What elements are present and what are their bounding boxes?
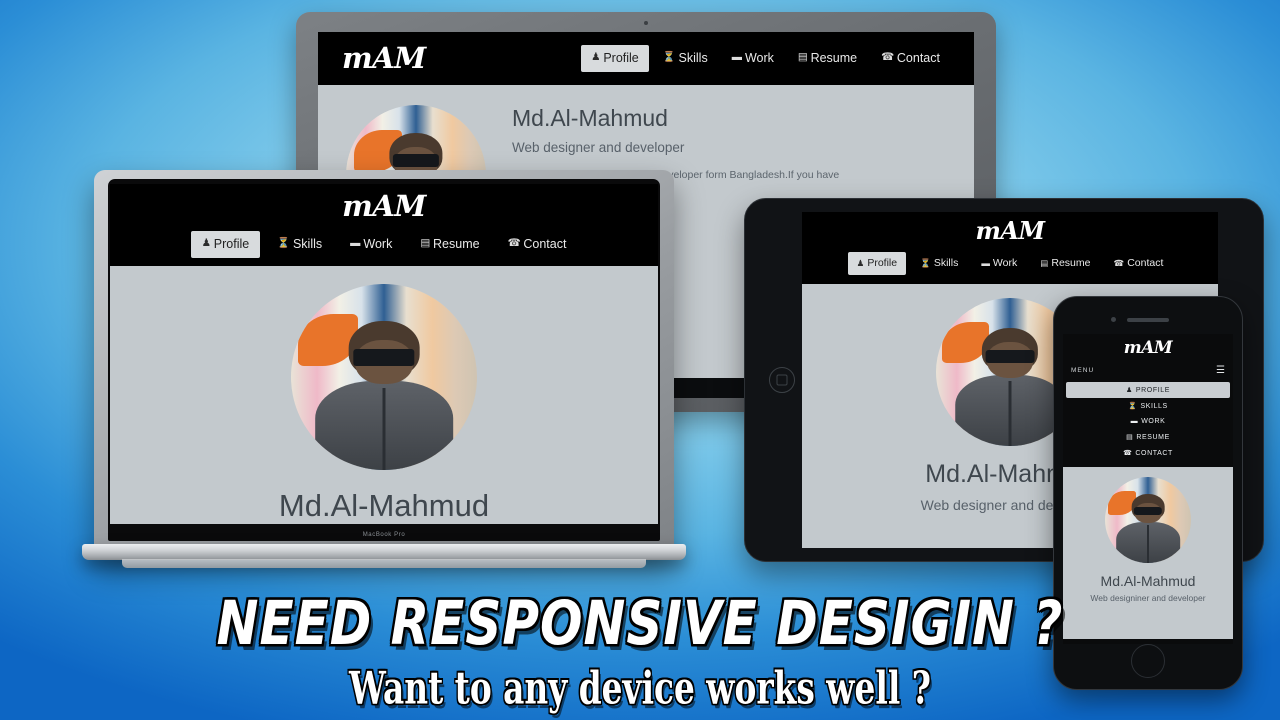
tablet-nav-list: ♟Profile ⏳Skills ▬Work ▤Resume ☎Contact xyxy=(802,252,1218,275)
laptop-navbar: mAM ♟Profile ⏳Skills ▬Work ▤Resume ☎Cont… xyxy=(110,184,658,266)
mobile-menu-label: MENU xyxy=(1071,367,1094,374)
briefcase-icon: ▬ xyxy=(350,239,360,249)
nav-item-skills[interactable]: ⏳Skills xyxy=(911,252,967,275)
nav-item-skills[interactable]: ⏳Skills xyxy=(266,231,333,258)
avatar xyxy=(1105,477,1191,563)
desktop-webcam-icon xyxy=(644,21,648,25)
nav-label: WORK xyxy=(1141,418,1165,425)
avatar xyxy=(291,284,477,470)
headline-primary: NEED RESPONSIVE DESIGIN ? xyxy=(0,588,1280,659)
nav-label: PROFILE xyxy=(1136,387,1170,394)
mobile-nav-item-resume[interactable]: ▤RESUME xyxy=(1063,429,1233,445)
nav-label: Skills xyxy=(679,52,708,65)
nav-item-work[interactable]: ▬Work xyxy=(722,45,784,72)
filter-icon: ⏳ xyxy=(663,53,676,63)
file-icon: ▤ xyxy=(1126,433,1133,441)
nav-label: Contact xyxy=(897,52,940,65)
laptop-hero: Md.Al-Mahmud xyxy=(110,266,658,524)
mobile-nav-item-contact[interactable]: ☎CONTACT xyxy=(1063,445,1233,461)
headline-secondary: Want to any device works well ? xyxy=(115,662,1165,715)
nav-item-profile[interactable]: ♟Profile xyxy=(191,231,261,258)
user-icon: ♟ xyxy=(857,259,865,268)
site-logo[interactable]: mAM xyxy=(802,219,1218,243)
desktop-nav-list: ♟Profile ⏳Skills ▬Work ▤Resume ☎Contact xyxy=(581,45,950,72)
nav-label: Resume xyxy=(433,238,480,251)
nav-item-skills[interactable]: ⏳Skills xyxy=(653,45,718,72)
tablet-home-button[interactable] xyxy=(769,367,795,393)
site-logo[interactable]: mAM xyxy=(1063,334,1233,357)
user-icon: ♟ xyxy=(1126,386,1133,394)
tablet-navbar: mAM ♟Profile ⏳Skills ▬Work ▤Resume ☎Cont… xyxy=(802,212,1218,284)
hero-name: Md.Al-Mahmud xyxy=(279,488,489,524)
filter-icon: ⏳ xyxy=(277,239,290,249)
laptop-lid: MacBook Pro mAM ♟Profile ⏳Skills ▬Work ▤… xyxy=(94,170,674,558)
phone-speaker-icon xyxy=(1127,318,1169,322)
mobile-menu-bar: MENU ☰ xyxy=(1063,357,1233,382)
nav-label: Skills xyxy=(934,258,959,269)
phone-camera-icon xyxy=(1111,317,1116,322)
hero-subtitle: Web designer and developer xyxy=(512,140,842,155)
file-icon: ▤ xyxy=(798,53,808,63)
site-logo[interactable]: mAM xyxy=(110,192,658,221)
nav-label: Work xyxy=(993,258,1017,269)
poster-canvas: mAM ♟Profile ⏳Skills ▬Work ▤Resume ☎Cont… xyxy=(0,0,1280,720)
briefcase-icon: ▬ xyxy=(1131,418,1139,425)
nav-label: RESUME xyxy=(1136,434,1170,441)
nav-item-resume[interactable]: ▤Resume xyxy=(788,45,867,72)
laptop-foot xyxy=(122,559,646,568)
laptop-nav-list: ♟Profile ⏳Skills ▬Work ▤Resume ☎Contact xyxy=(110,231,658,258)
nav-label: Profile xyxy=(867,258,897,269)
nav-label: Skills xyxy=(293,238,322,251)
nav-item-profile[interactable]: ♟Profile xyxy=(848,252,906,275)
nav-item-contact[interactable]: ☎Contact xyxy=(497,231,578,258)
hamburger-icon[interactable]: ☰ xyxy=(1216,365,1225,376)
mobile-nav-item-skills[interactable]: ⏳SKILLS xyxy=(1063,398,1233,414)
user-icon: ♟ xyxy=(591,53,600,63)
laptop-device: MacBook Pro mAM ♟Profile ⏳Skills ▬Work ▤… xyxy=(82,170,686,582)
filter-icon: ⏳ xyxy=(1128,402,1137,410)
nav-label: Work xyxy=(745,52,774,65)
nav-label: SKILLS xyxy=(1140,403,1167,410)
nav-label: Profile xyxy=(214,238,249,251)
file-icon: ▤ xyxy=(420,239,430,249)
nav-item-resume[interactable]: ▤Resume xyxy=(409,231,490,258)
file-icon: ▤ xyxy=(1040,259,1048,268)
hero-name: Md.Al-Mahmud xyxy=(1101,573,1196,589)
user-icon: ♟ xyxy=(202,239,211,249)
laptop-brand-label: MacBook Pro xyxy=(363,532,406,538)
briefcase-icon: ▬ xyxy=(732,53,742,63)
phone-icon: ☎ xyxy=(1123,449,1132,457)
nav-item-profile[interactable]: ♟Profile xyxy=(581,45,649,72)
nav-label: Contact xyxy=(523,238,566,251)
nav-label: CONTACT xyxy=(1135,450,1173,457)
mobile-nav-list: ♟PROFILE ⏳SKILLS ▬WORK ▤RESUME ☎CONTACT xyxy=(1063,382,1233,461)
phone-icon: ☎ xyxy=(508,239,521,249)
desktop-navbar: mAM ♟Profile ⏳Skills ▬Work ▤Resume ☎Cont… xyxy=(318,32,974,85)
filter-icon: ⏳ xyxy=(920,259,931,268)
nav-item-work[interactable]: ▬Work xyxy=(339,231,403,258)
laptop-base xyxy=(82,544,686,560)
site-logo[interactable]: mAM xyxy=(342,44,426,73)
hero-name: Md.Al-Mahmud xyxy=(512,105,842,132)
laptop-screen: mAM ♟Profile ⏳Skills ▬Work ▤Resume ☎Cont… xyxy=(110,184,658,524)
nav-label: Resume xyxy=(811,52,858,65)
nav-label: Resume xyxy=(1051,258,1090,269)
phone-icon: ☎ xyxy=(881,53,894,63)
nav-item-resume[interactable]: ▤Resume xyxy=(1031,252,1099,275)
nav-label: Contact xyxy=(1127,258,1163,269)
nav-label: Profile xyxy=(603,52,638,65)
mobile-nav-item-work[interactable]: ▬WORK xyxy=(1063,414,1233,429)
nav-item-work[interactable]: ▬Work xyxy=(972,252,1026,275)
mobile-nav-item-profile[interactable]: ♟PROFILE xyxy=(1066,382,1230,398)
briefcase-icon: ▬ xyxy=(981,259,990,268)
phone-icon: ☎ xyxy=(1113,259,1124,268)
nav-label: Work xyxy=(363,238,392,251)
nav-item-contact[interactable]: ☎Contact xyxy=(871,45,950,72)
nav-item-contact[interactable]: ☎Contact xyxy=(1104,252,1172,275)
